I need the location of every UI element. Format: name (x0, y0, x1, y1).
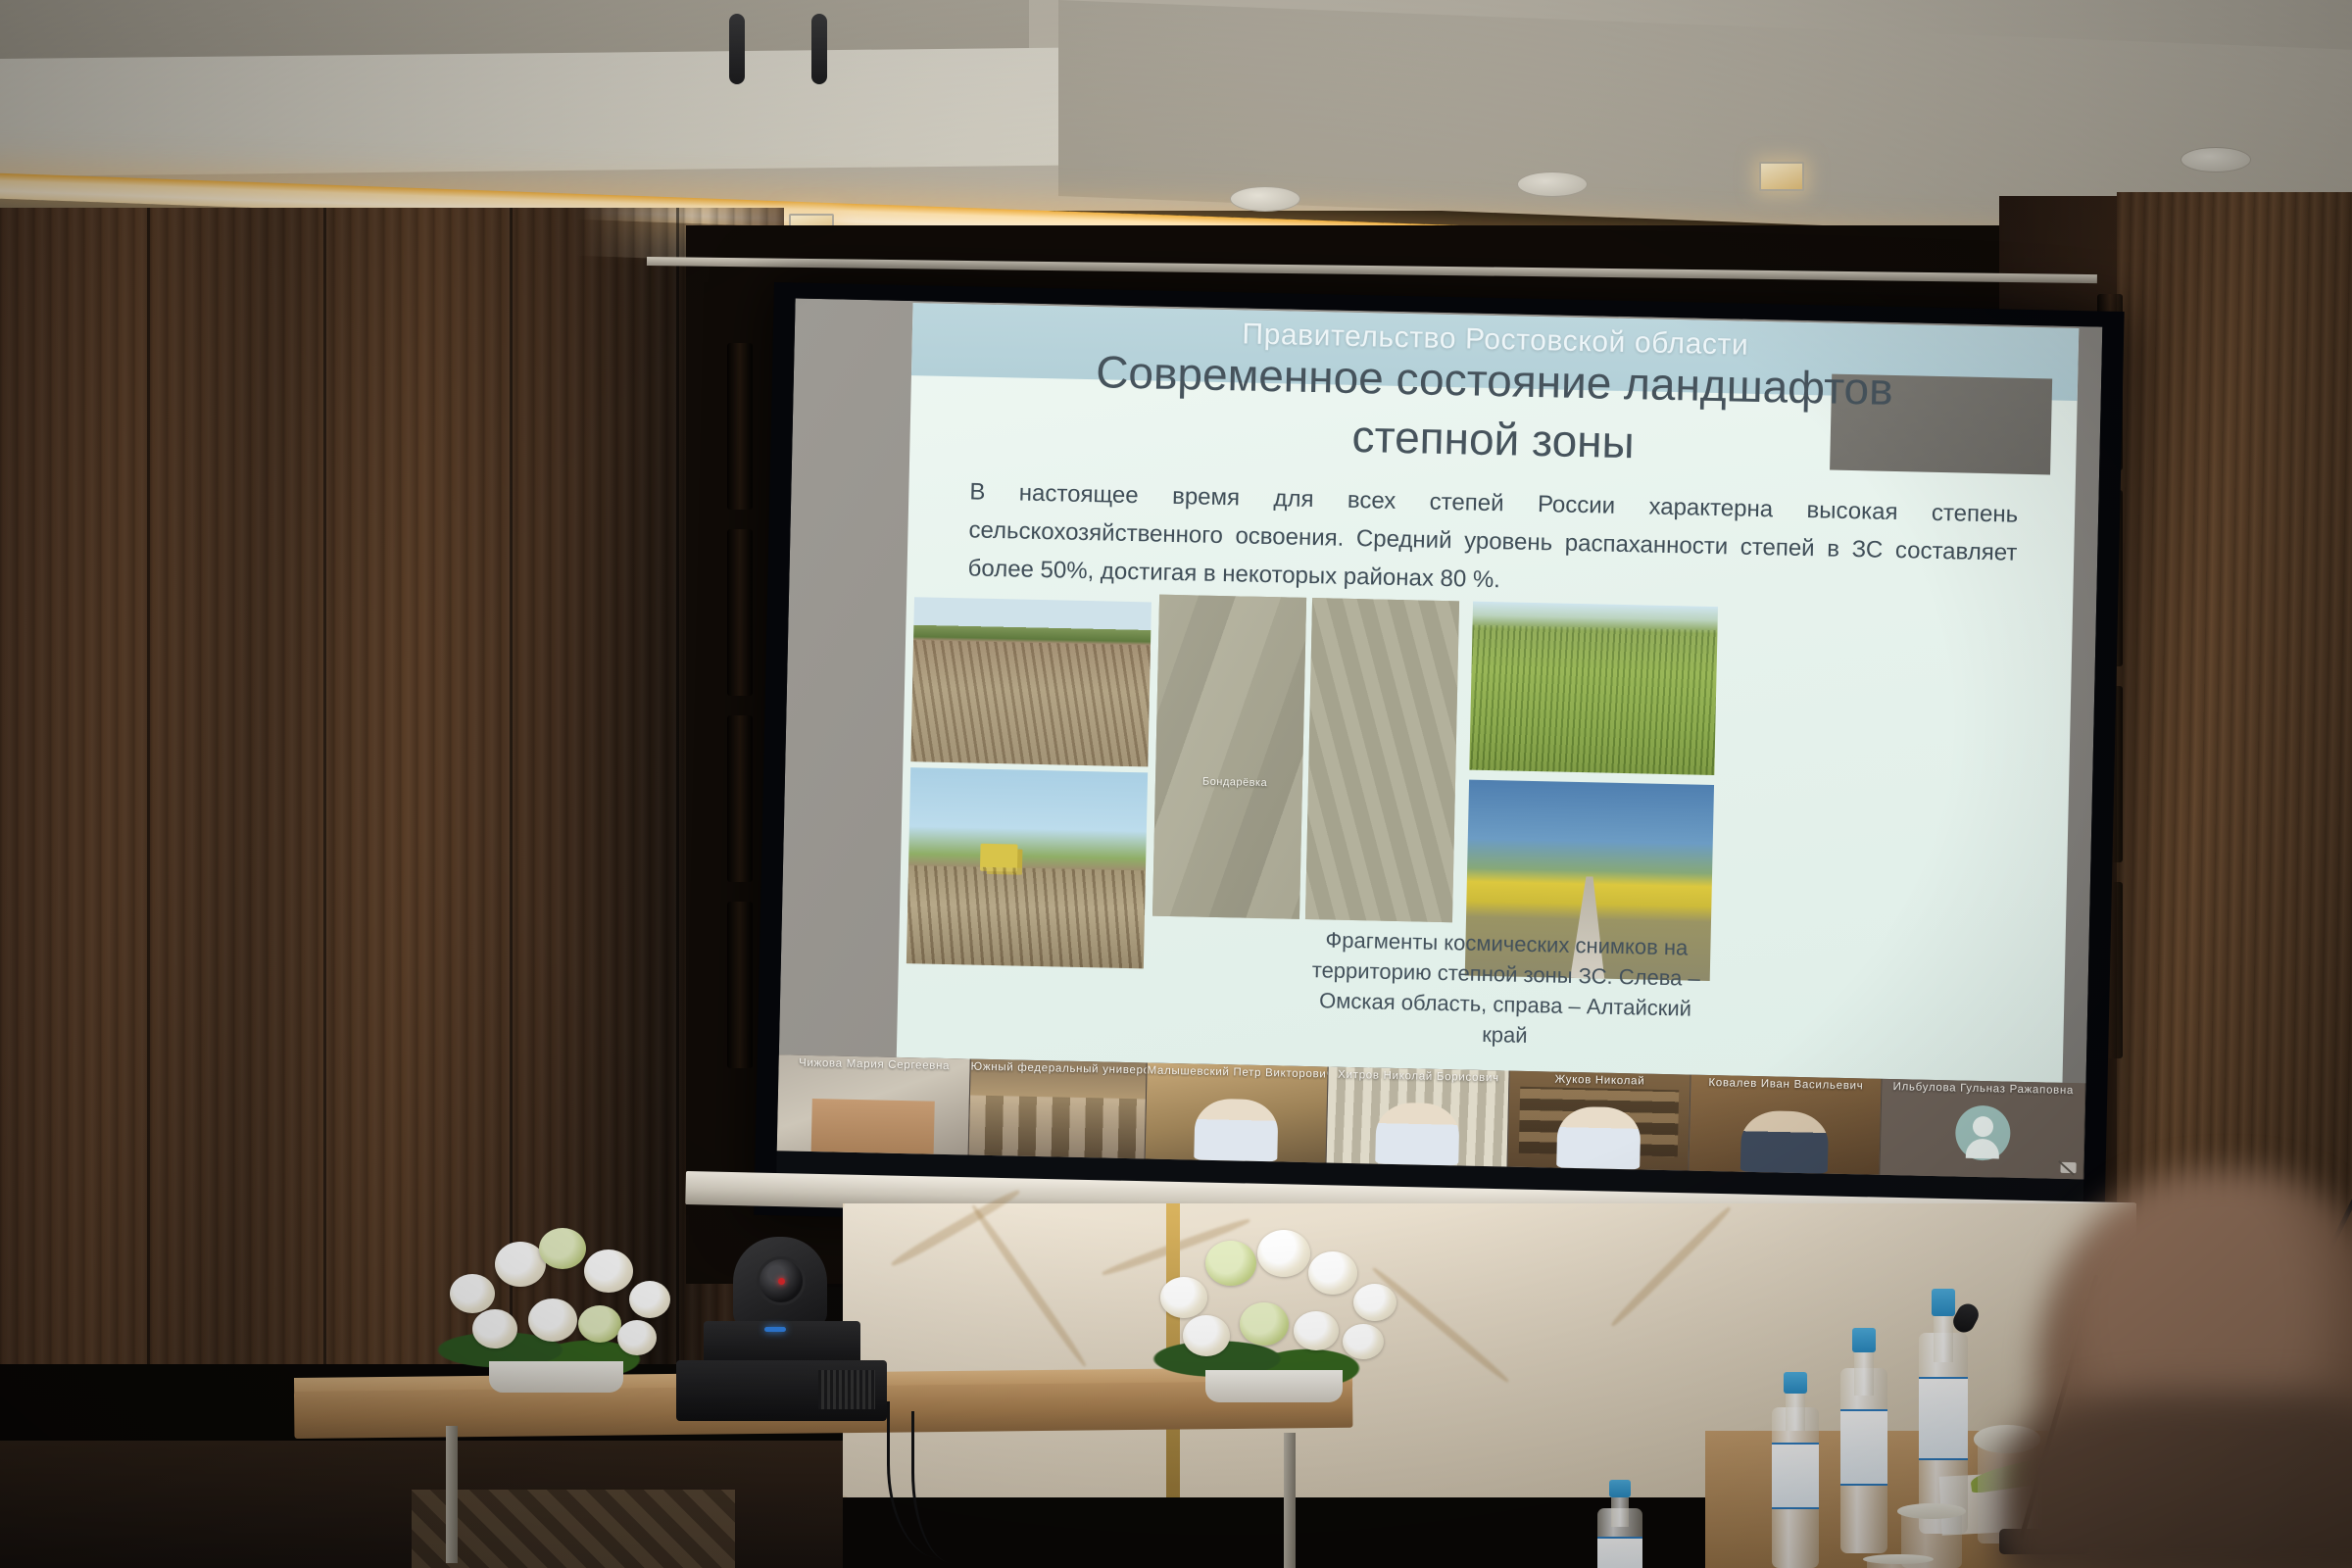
vent-grille (818, 1370, 875, 1409)
bottle-label (1772, 1443, 1819, 1509)
ceiling-speaker-icon (1230, 186, 1300, 212)
conference-hall-scene: Правительство Ростовской области Совреме… (0, 0, 2352, 1568)
participant-tile[interactable]: Жуков Николай (1507, 1071, 1690, 1171)
tractor-icon (980, 844, 1018, 872)
participant-tile[interactable]: Ковалев Иван Васильевич (1689, 1075, 1882, 1175)
camera-arm (811, 14, 827, 84)
bottle-cap (1852, 1328, 1875, 1352)
curtain-fold (727, 343, 753, 510)
participant-tile[interactable]: Хитров Николай Борисович (1327, 1067, 1510, 1167)
slide-satellite-omsk: Бондарёвка (1152, 595, 1306, 919)
vase (1205, 1370, 1342, 1402)
slide-photo-caption: Фрагменты космических снимков на террито… (1308, 924, 1703, 1054)
ceiling-speaker-icon (2180, 147, 2251, 172)
slide-photo-wheat-field (1469, 602, 1718, 775)
projection-surface: Правительство Ростовской области Совреме… (776, 298, 2102, 1208)
flower-arrangement-left (416, 1210, 696, 1387)
bottle-cap (1609, 1480, 1631, 1497)
camera-arm (729, 14, 745, 84)
bottle-label (1597, 1537, 1642, 1568)
bottle-label (1840, 1409, 1887, 1486)
presentation-slide: Правительство Ростовской области Совреме… (897, 303, 2080, 1083)
slide-photo-tractor (906, 767, 1148, 968)
water-bottle-4[interactable] (1597, 1480, 1642, 1568)
participant-figure (1740, 1110, 1830, 1174)
camera-off-icon (2060, 1162, 2076, 1173)
camera-status-led (778, 1278, 785, 1285)
participant-figure (1194, 1099, 1278, 1162)
curtain-fold (727, 902, 753, 1068)
water-bottle-1[interactable] (1772, 1372, 1819, 1568)
right-wood-wall (2117, 192, 2352, 1270)
slide-title: Современное состояние ландшафтов степной… (909, 338, 2078, 481)
flower-arrangement-right (1132, 1215, 1416, 1396)
water-bottle-2[interactable] (1840, 1328, 1887, 1553)
participant-figure (1556, 1106, 1641, 1170)
projection-screen: Правительство Ростовской области Совреме… (754, 282, 2124, 1245)
ceiling-spotlight-icon (1759, 162, 1804, 191)
bottle-label (1919, 1377, 1968, 1460)
participant-tile[interactable]: Чижова Мария Сергеевна (777, 1054, 971, 1154)
participant-tile-no-video[interactable]: Ильбулова Гульназ Ражаповна (1880, 1079, 2085, 1180)
left-wood-wall (0, 208, 784, 1364)
bottle-cap (1784, 1372, 1806, 1394)
ptz-camera[interactable] (733, 1237, 827, 1327)
slide-body-text: В настоящее время для всех степей России… (967, 472, 2018, 610)
participant-tile[interactable]: Малышевский Петр Викторович (1146, 1062, 1329, 1162)
media-processor-unit[interactable] (676, 1360, 887, 1421)
slide-title-line-2: степной зоны (909, 397, 2077, 481)
satellite-place-label: Бондарёвка (1202, 775, 1267, 788)
floor-pattern (412, 1490, 735, 1568)
foreground-person-body (1999, 1392, 2352, 1568)
table-leg (1284, 1433, 1296, 1568)
bottle-cap (1932, 1289, 1955, 1316)
participant-figure (1375, 1102, 1459, 1166)
vase (489, 1361, 623, 1393)
curtain-fold (727, 529, 753, 696)
ceiling-speaker-icon (1517, 171, 1588, 197)
codec-status-led (764, 1327, 786, 1332)
table-leg (446, 1426, 458, 1563)
slide-satellite-altai (1305, 598, 1459, 922)
slide-photo-plowed-field (910, 597, 1151, 766)
participant-tile[interactable]: Южный федеральный универс... (969, 1059, 1148, 1159)
curtain-fold (727, 715, 753, 882)
drinking-glass-3[interactable] (1867, 1558, 1930, 1568)
